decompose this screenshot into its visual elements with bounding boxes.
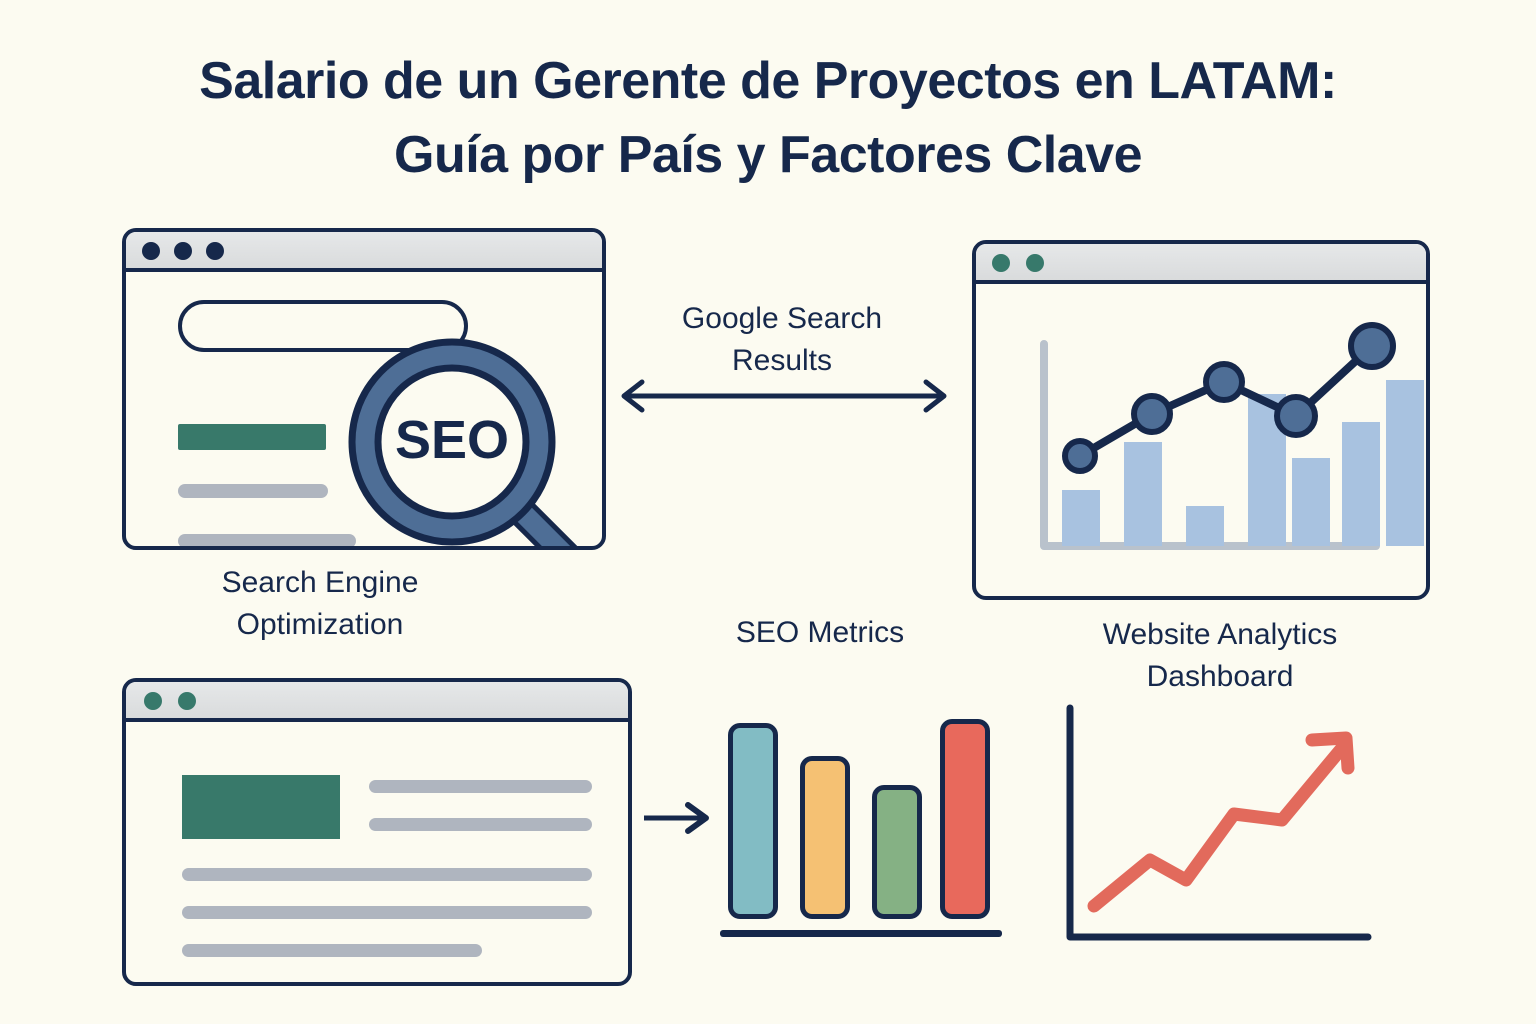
caption-metrics-line-1: SEO Metrics [640, 612, 1000, 654]
data-point [1277, 397, 1315, 435]
data-point [1206, 364, 1242, 400]
window-dot-2-icon[interactable] [178, 692, 196, 710]
metric-bar-4 [940, 719, 990, 919]
content-thumbnail [182, 775, 340, 839]
content-text-line-5 [182, 944, 482, 957]
window-dot-3-icon[interactable] [206, 242, 224, 260]
metric-bar-3 [872, 785, 922, 919]
connector-label: Google Search Results [612, 298, 952, 382]
growth-trend-chart [1050, 690, 1390, 980]
metric-bar-1 [728, 723, 778, 919]
caption-seo-line-2: Optimization [120, 604, 520, 646]
content-text-line-2 [178, 534, 356, 548]
analytics-browser-window[interactable] [972, 240, 1430, 600]
window-dot-1-icon[interactable] [992, 254, 1010, 272]
content-text-line-2 [369, 818, 592, 831]
magnifier-icon: SEO [344, 334, 606, 550]
page-title-line-1: Salario de un Gerente de Proyectos en LA… [0, 44, 1536, 118]
magnifier-label: SEO [395, 410, 509, 470]
window-dot-2-icon[interactable] [1026, 254, 1044, 272]
analytics-window-body [976, 284, 1426, 596]
seo-window-titlebar [126, 232, 602, 272]
content-text-line-1 [178, 484, 328, 498]
page-title: Salario de un Gerente de Proyectos en LA… [0, 44, 1536, 192]
seo-window-body: SEO [126, 272, 602, 546]
growth-trend-line [1094, 748, 1342, 906]
caption-seo-line-1: Search Engine [120, 562, 520, 604]
page-title-line-2: Guía por País y Factores Clave [0, 118, 1536, 192]
seo-browser-window[interactable]: SEO [122, 228, 606, 550]
double-arrow-icon [608, 375, 960, 417]
content-window-body [126, 722, 628, 982]
analytics-window-titlebar [976, 244, 1426, 284]
right-arrow-icon [640, 798, 716, 838]
content-text-line-3 [182, 868, 592, 881]
caption-analytics-line-1: Website Analytics [1040, 614, 1400, 656]
data-point [1351, 325, 1393, 367]
connector-label-line-1: Google Search [612, 298, 952, 340]
content-text-line-4 [182, 906, 592, 919]
data-point [1134, 396, 1170, 432]
caption-website-analytics-dashboard: Website Analytics Dashboard [1040, 614, 1400, 698]
caption-seo-metrics: SEO Metrics [640, 612, 1000, 654]
data-point [1065, 441, 1095, 471]
analytics-combo-chart [976, 284, 1426, 600]
content-text-line-1 [369, 780, 592, 793]
content-highlight-bar [178, 424, 326, 450]
metric-bar-2 [800, 756, 850, 919]
content-window-titlebar [126, 682, 628, 722]
window-dot-2-icon[interactable] [174, 242, 192, 260]
infographic-canvas: Salario de un Gerente de Proyectos en LA… [0, 0, 1536, 1024]
caption-search-engine-optimization: Search Engine Optimization [120, 562, 520, 646]
metric-baseline-axis [720, 930, 1002, 937]
content-browser-window[interactable] [122, 678, 632, 986]
window-dot-1-icon[interactable] [144, 692, 162, 710]
window-dot-1-icon[interactable] [142, 242, 160, 260]
analytics-bars [1062, 380, 1424, 546]
